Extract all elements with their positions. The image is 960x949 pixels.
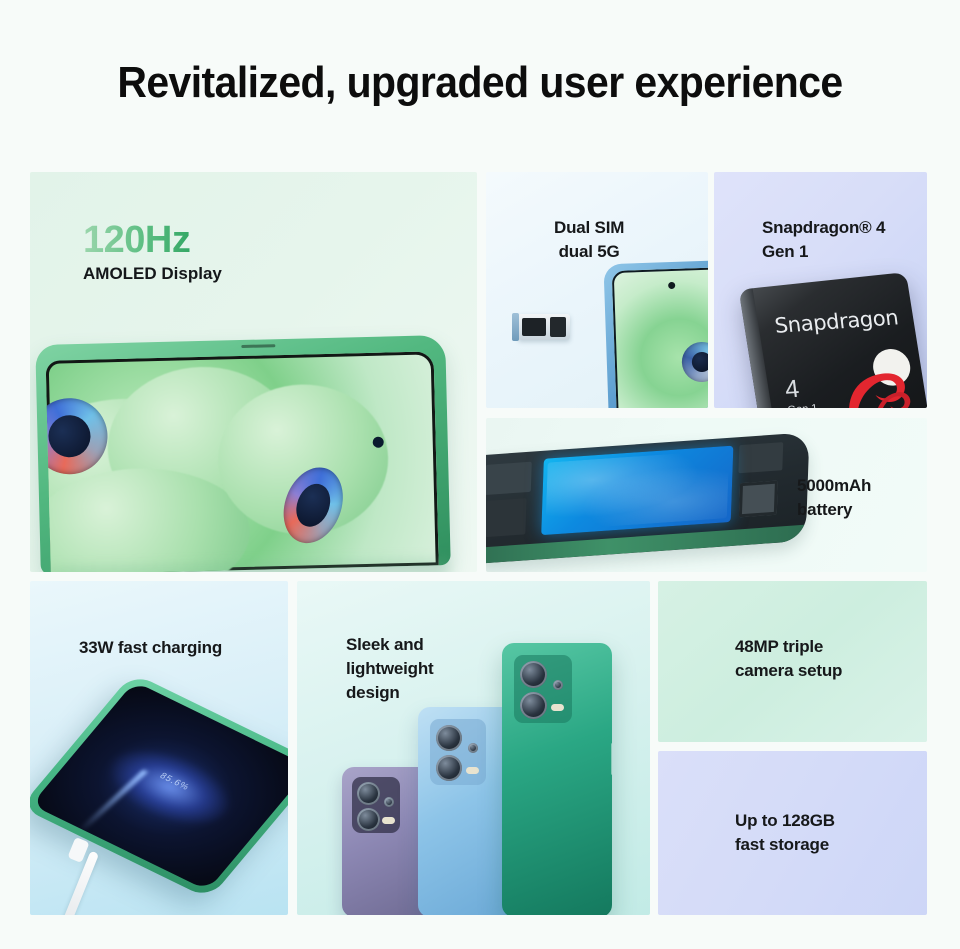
camera-module [430,719,486,785]
phone-screen [46,351,439,572]
camera-flash-icon [382,817,395,824]
processor-caption: Snapdragon® 4 Gen 1 [762,216,885,264]
camera-caption: 48MP triple camera setup [735,635,842,683]
feature-panel-processor[interactable]: Snapdragon® 4 Gen 1 Snapdragon 4 Gen 1 [714,172,927,408]
chip-edge [739,288,776,408]
charging-glow [92,734,248,841]
fast-charging-caption: 33W fast charging [79,636,222,660]
camera-flash-icon [466,767,479,774]
phone-cutaway-image [486,432,809,564]
phone-screen: 85.6% [31,681,288,890]
feature-panel-camera[interactable]: 48MP triple camera setup [658,581,927,742]
feature-panel-storage[interactable]: Up to 128GB fast storage [658,751,927,915]
camera-lens-secondary-icon [520,692,547,719]
internal-component [738,442,783,473]
internal-component [486,498,527,537]
design-caption: Sleek and lightweight design [346,633,434,705]
feature-panel-battery[interactable]: 5000mAh battery [486,418,927,572]
power-button [611,743,612,775]
front-camera-punch-hole-icon [668,282,675,289]
camera-lens-secondary-icon [436,755,462,781]
sim-card-2 [550,317,566,337]
chip-model-number: 4 [783,375,800,404]
phone-screen [612,267,708,408]
feature-panel-dual-sim[interactable]: Dual SIM dual 5G [486,172,708,408]
chip-model-label: 4 Gen 1 [784,375,819,408]
feature-panel-display[interactable]: 120Hz AMOLED Display [30,172,477,572]
camera-module [352,777,400,833]
internal-component [739,481,778,518]
chip-gen-label: Gen 1 [787,404,818,408]
battery-caption: 5000mAh battery [797,474,871,522]
camera-lens-tertiary-icon [468,743,478,753]
sim-card-1 [522,318,546,336]
phone-landscape-image [35,335,450,572]
feature-panel-fast-charging[interactable]: 33W fast charging 85.6% [30,581,288,915]
display-subtitle: AMOLED Display [83,264,222,284]
page-title: Revitalized, upgraded user experience [34,58,927,108]
battery-cell-graphic [541,446,733,536]
camera-lens-main-icon [436,725,462,751]
snapdragon-dragon-logo-icon [830,333,927,408]
camera-lens-secondary-icon [357,808,380,831]
display-headline: 120Hz [83,219,190,262]
internal-component [486,462,532,495]
camera-module [514,655,572,723]
camera-flash-icon [551,704,564,711]
battery-highlight [545,450,729,531]
camera-lens-main-icon [520,661,547,688]
storage-caption: Up to 128GB fast storage [735,809,835,857]
phone-green-image [502,643,612,915]
snapdragon-chip-image: Snapdragon 4 Gen 1 [739,272,927,408]
phone-charging-image: 85.6% [30,673,288,899]
phone-front-image [603,260,708,408]
feature-panel-design[interactable]: Sleek and lightweight design [297,581,650,915]
dual-sim-caption: Dual SIM dual 5G [554,216,624,264]
snapdragon-wordmark: Snapdragon [773,305,899,337]
phone-green-frame [486,525,806,564]
wallpaper-ring [681,341,708,382]
camera-lens-main-icon [357,782,380,805]
earpiece-speaker-icon [241,344,275,348]
sim-tray-icon [518,314,570,340]
camera-lens-tertiary-icon [553,680,563,690]
camera-lens-tertiary-icon [384,797,394,807]
